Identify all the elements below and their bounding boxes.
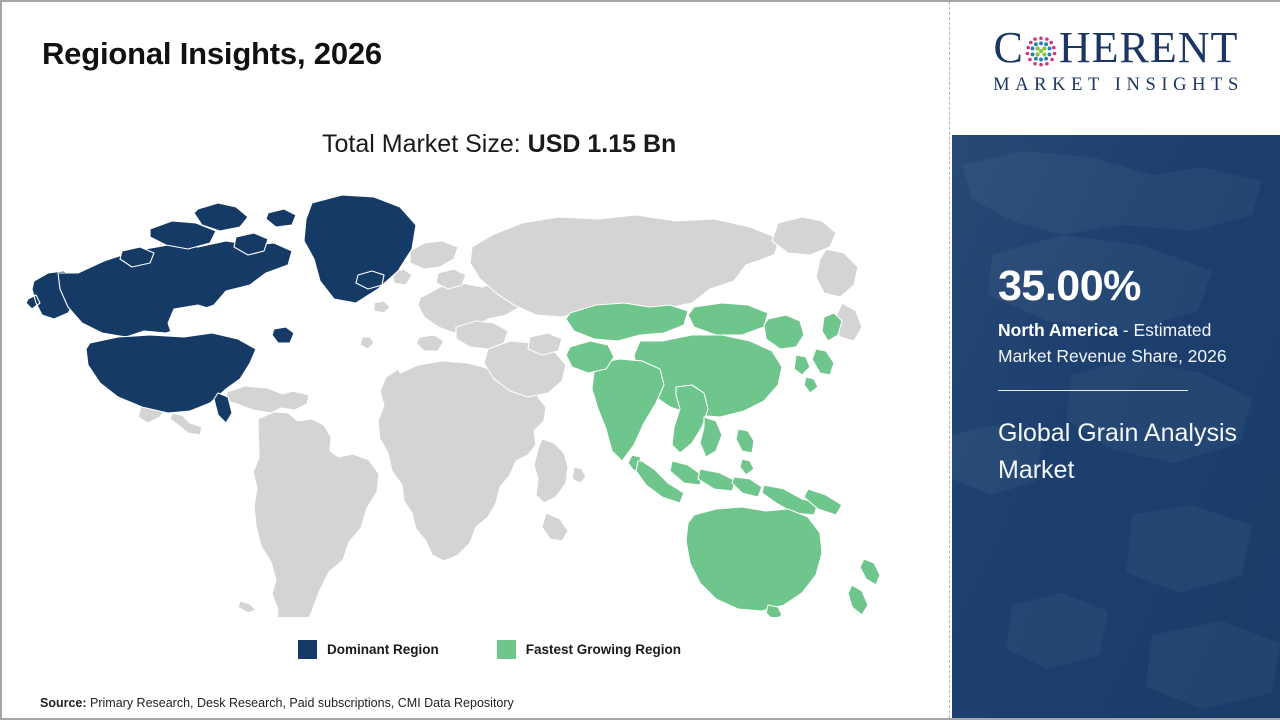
market-name: Global Grain Analysis Market [998,415,1266,488]
panel-divider [998,390,1188,392]
source-text: Primary Research, Desk Research, Paid su… [87,696,514,710]
source-key: Source: [40,696,87,710]
total-market-size: Total Market Size: USD 1.15 Bn [322,130,676,159]
logo-letter-c: C [994,26,1024,70]
legend-label-fastest: Fastest Growing Region [526,642,681,657]
dominant-swatch-icon [298,640,317,659]
logo-wordmark: C [966,26,1266,70]
logo-tagline: MARKET INSIGHTS [966,75,1266,96]
market-size-label: Total Market Size: [322,130,521,158]
logo-word-herent: HERENT [1059,26,1239,70]
vertical-divider [949,2,950,718]
logo-area: C [952,2,1280,135]
highlight-panel: 35.00% North America - Estimated Market … [952,135,1280,718]
market-size-value: USD 1.15 Bn [528,130,677,158]
legend-label-dominant: Dominant Region [327,642,439,657]
infographic-page: Regional Insights, 2026 Total Market Siz… [0,0,1280,720]
map-section: Regional Insights, 2026 Total Market Siz… [2,2,950,718]
map-legend: Dominant Region Fastest Growing Region [298,640,681,659]
coherent-market-insights-logo: C [966,26,1266,96]
world-map-svg [22,177,902,617]
fastest-swatch-icon [497,640,516,659]
world-map [22,177,902,617]
panel-content: 35.00% North America - Estimated Market … [998,265,1266,488]
region-asia-pacific-fastest [566,303,880,617]
share-region-name: North America [998,320,1118,340]
source-note: Source: Primary Research, Desk Research,… [40,696,514,710]
page-title: Regional Insights, 2026 [42,36,382,72]
region-north-america-dominant [26,195,416,423]
region-south-america [225,386,379,617]
legend-item-dominant: Dominant Region [298,640,439,659]
share-description: North America - Estimated Market Revenue… [998,318,1266,370]
legend-item-fastest: Fastest Growing Region [497,640,681,659]
dotted-globe-icon [1024,34,1058,68]
region-misc-islands [360,301,390,349]
share-percentage: 35.00% [998,265,1266,308]
region-africa [378,361,586,561]
